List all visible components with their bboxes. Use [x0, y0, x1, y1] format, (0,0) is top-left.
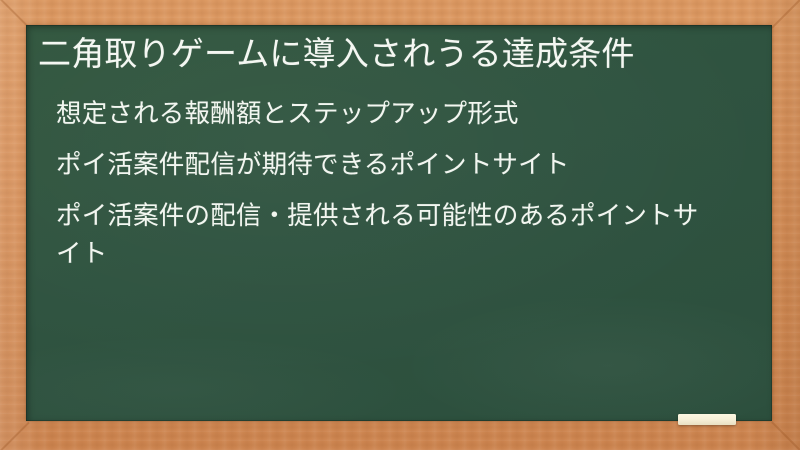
frame-miter-bottom-left	[0, 422, 29, 450]
frame-miter-top-left	[0, 0, 29, 28]
frame-miter-top-right	[771, 0, 800, 28]
slide-item-list: 想定される報酬額とステップアップ形式 ポイ活案件配信が期待できるポイントサイト …	[34, 95, 754, 273]
chalkboard-wooden-frame: 二角取りゲームに導入されうる達成条件 想定される報酬額とステップアップ形式 ポイ…	[0, 0, 800, 450]
frame-miter-bottom-right	[771, 422, 800, 450]
chalk-stick	[678, 414, 736, 425]
slide-title: 二角取りゲームに導入されうる達成条件	[34, 31, 754, 77]
chalkboard-surface: 二角取りゲームに導入されうる達成条件 想定される報酬額とステップアップ形式 ポイ…	[26, 25, 772, 421]
list-item: 想定される報酬額とステップアップ形式	[34, 95, 754, 133]
board-content: 二角取りゲームに導入されうる達成条件 想定される報酬額とステップアップ形式 ポイ…	[26, 25, 772, 273]
list-item: ポイ活案件配信が期待できるポイントサイト	[34, 146, 754, 184]
list-item: ポイ活案件の配信・提供される可能性のあるポイントサイト	[34, 197, 754, 273]
